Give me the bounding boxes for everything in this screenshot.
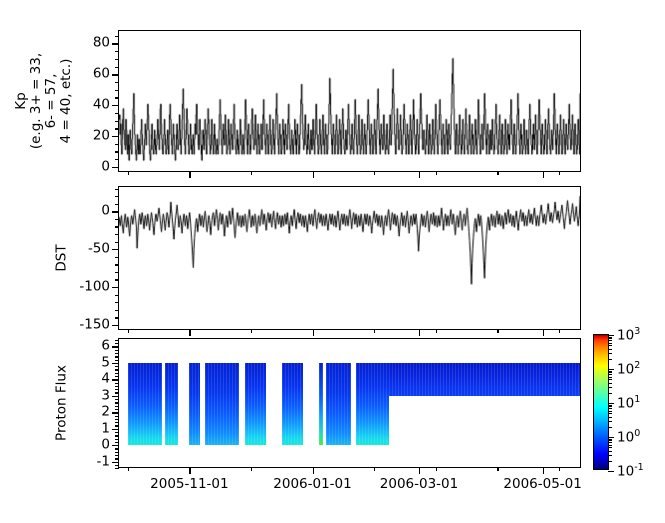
- dst-y-tick-label: -100: [79, 280, 110, 294]
- proton-flux-y-minor-tick: [115, 432, 119, 433]
- colorbar-minor-tick: [608, 405, 612, 406]
- colorbar-minor-tick: [608, 411, 612, 412]
- colorbar-minor-tick: [608, 353, 612, 354]
- kp-y-minor-tick: [115, 97, 119, 98]
- kp-x-tick: [189, 171, 190, 178]
- proton-flux-x-tick-label: 2006-03-01: [380, 478, 458, 492]
- kp-x-minor-tick: [436, 171, 437, 175]
- colorbar-minor-tick: [608, 337, 612, 338]
- proton-flux-y-minor-tick: [115, 376, 119, 377]
- proton-flux-block: [189, 363, 200, 445]
- dst-x-tick: [313, 329, 314, 336]
- colorbar-minor-tick: [608, 343, 612, 344]
- dst-y-minor-tick: [115, 234, 119, 235]
- dst-y-minor-tick: [115, 295, 119, 296]
- proton-flux-y-tick: [112, 462, 119, 463]
- proton-flux-y-minor-tick: [115, 340, 119, 341]
- colorbar-minor-tick: [608, 372, 612, 373]
- kp-y-tick-label: 20: [93, 129, 110, 143]
- kp-y-minor-tick: [115, 159, 119, 160]
- proton-flux-y-minor-tick: [115, 409, 119, 410]
- colorbar-minor-tick: [608, 383, 612, 384]
- kp-y-minor-tick: [115, 67, 119, 68]
- kp-x-tick: [419, 171, 420, 178]
- kp-y-minor-tick: [115, 90, 119, 91]
- colorbar-minor-tick: [608, 417, 612, 418]
- kp-y-minor-tick: [115, 51, 119, 52]
- kp-y-minor-tick: [115, 128, 119, 129]
- colorbar-minor-tick: [608, 442, 612, 443]
- proton-flux-block-texture: [282, 363, 303, 445]
- dst-trace: [119, 187, 580, 329]
- figure-canvas: 020406080 Kp (e.g. 3+ = 33, 6- = 57, 4 =…: [0, 0, 665, 523]
- proton-flux-y-minor-tick: [115, 465, 119, 466]
- proton-flux-x-minor-tick: [128, 467, 129, 471]
- proton-flux-y-minor-tick: [115, 383, 119, 384]
- proton-flux-y-minor-tick: [115, 392, 119, 393]
- proton-flux-y-tick-label: 5: [101, 356, 110, 370]
- proton-flux-block: [356, 363, 389, 445]
- proton-flux-y-minor-tick: [115, 353, 119, 354]
- colorbar-tick-label: 100: [617, 429, 640, 445]
- colorbar-minor-tick: [608, 447, 612, 448]
- proton-flux-y-tick: [112, 346, 119, 347]
- proton-flux-y-minor-tick: [115, 389, 119, 390]
- colorbar-tick-label: 103: [617, 327, 640, 343]
- dst-plot-panel: 0-50-100-150: [118, 186, 581, 330]
- proton-flux-y-tick: [112, 412, 119, 413]
- proton-flux-x-tick: [543, 467, 544, 474]
- colorbar-minor-tick: [608, 387, 612, 388]
- dst-x-minor-tick: [374, 329, 375, 333]
- proton-flux-block: [165, 363, 178, 445]
- proton-flux-block-texture: [245, 363, 266, 445]
- kp-y-minor-tick: [115, 151, 119, 152]
- colorbar-minor-tick: [608, 379, 612, 380]
- kp-y-tick: [112, 105, 119, 106]
- colorbar-minor-tick: [608, 406, 612, 407]
- dst-x-tick: [419, 329, 420, 336]
- proton-flux-y-minor-tick: [115, 386, 119, 387]
- proton-flux-y-tick-label: 0: [101, 438, 110, 452]
- colorbar-tick: [608, 403, 614, 404]
- proton-flux-heatmap: [119, 339, 580, 467]
- colorbar-minor-tick: [608, 338, 612, 339]
- colorbar-minor-tick: [608, 374, 612, 375]
- proton-flux-y-minor-tick: [115, 406, 119, 407]
- colorbar-minor-tick: [608, 421, 612, 422]
- kp-y-tick: [112, 43, 119, 44]
- kp-x-tick: [313, 171, 314, 178]
- kp-y-minor-tick: [115, 113, 119, 114]
- kp-y-minor-tick: [115, 82, 119, 83]
- kp-y-tick-label: 60: [93, 67, 110, 81]
- proton-flux-block-texture: [356, 363, 389, 445]
- proton-flux-y-tick: [112, 363, 119, 364]
- proton-flux-y-minor-tick: [115, 356, 119, 357]
- dst-y-tick-label: 0: [101, 205, 110, 219]
- colorbar-minor-tick: [608, 461, 612, 462]
- proton-flux-block-texture: [326, 363, 351, 445]
- proton-flux-block-texture: [319, 363, 323, 445]
- dst-x-minor-tick: [436, 329, 437, 333]
- colorbar-tick: [608, 335, 614, 336]
- dst-y-tick-label: -50: [88, 242, 110, 256]
- proton-flux-y-minor-tick: [115, 350, 119, 351]
- kp-y-tick: [112, 136, 119, 137]
- proton-flux-y-tick: [112, 396, 119, 397]
- proton-flux-y-minor-tick: [115, 422, 119, 423]
- dst-y-tick-label: -150: [79, 318, 110, 332]
- colorbar-minor-tick: [608, 393, 612, 394]
- colorbar-minor-tick: [608, 371, 612, 372]
- proton-flux-y-tick-label: 6: [101, 340, 110, 354]
- dst-y-minor-tick: [115, 317, 119, 318]
- proton-flux-block: [245, 363, 266, 445]
- kp-y-tick-label: 80: [93, 37, 110, 51]
- dst-y-minor-tick: [115, 226, 119, 227]
- proton-flux-axis-title: Proton Flux: [54, 365, 69, 441]
- dst-y-tick: [112, 211, 119, 212]
- colorbar-tick: [608, 369, 614, 370]
- proton-flux-y-tick-label: -1: [97, 455, 110, 469]
- proton-flux-x-tick-label: 2005-11-01: [150, 478, 228, 492]
- dst-x-minor-tick: [559, 329, 560, 333]
- dst-y-minor-tick: [115, 272, 119, 273]
- kp-trace: [119, 31, 580, 171]
- kp-axis-title-line-4: 4 = 40, etc.): [59, 53, 74, 149]
- proton-flux-block-texture: [205, 363, 239, 445]
- proton-flux-colorbar: 10-1100101102103: [593, 334, 609, 470]
- dst-axis-title: DST: [54, 244, 69, 271]
- proton-flux-x-tick-label: 2006-05-01: [503, 478, 581, 492]
- proton-flux-x-minor-tick: [559, 467, 560, 471]
- dst-x-minor-tick: [128, 329, 129, 333]
- kp-y-tick: [112, 167, 119, 168]
- proton-flux-y-minor-tick: [115, 439, 119, 440]
- dst-y-tick: [112, 249, 119, 250]
- kp-y-minor-tick: [115, 121, 119, 122]
- dst-x-tick: [189, 329, 190, 336]
- proton-flux-y-minor-tick: [115, 360, 119, 361]
- proton-flux-y-tick: [112, 445, 119, 446]
- dst-y-minor-tick: [115, 302, 119, 303]
- proton-flux-x-tick: [313, 467, 314, 474]
- kp-y-minor-tick: [115, 59, 119, 60]
- colorbar-minor-tick: [608, 440, 612, 441]
- proton-flux-y-tick-label: 2: [101, 405, 110, 419]
- proton-flux-y-minor-tick: [115, 402, 119, 403]
- proton-flux-x-minor-tick: [374, 467, 375, 471]
- dst-y-minor-tick: [115, 310, 119, 311]
- kp-x-minor-tick: [128, 171, 129, 175]
- kp-y-tick: [112, 74, 119, 75]
- proton-flux-block-texture: [165, 363, 178, 445]
- proton-flux-y-minor-tick: [115, 425, 119, 426]
- colorbar-minor-tick: [608, 349, 612, 350]
- dst-y-tick: [112, 325, 119, 326]
- proton-flux-y-minor-tick: [115, 366, 119, 367]
- proton-flux-block: [326, 363, 351, 445]
- colorbar-tick-label: 101: [617, 395, 640, 411]
- colorbar-tick-label: 102: [617, 361, 640, 377]
- colorbar-minor-tick: [608, 340, 612, 341]
- proton-flux-y-minor-tick: [115, 452, 119, 453]
- colorbar-minor-tick: [608, 359, 612, 360]
- colorbar-minor-tick: [608, 427, 612, 428]
- proton-flux-y-minor-tick: [115, 455, 119, 456]
- proton-flux-y-minor-tick: [115, 468, 119, 469]
- proton-flux-block: [282, 363, 303, 445]
- dst-y-minor-tick: [115, 279, 119, 280]
- proton-flux-y-minor-tick: [115, 458, 119, 459]
- colorbar-minor-tick: [608, 455, 612, 456]
- proton-flux-y-minor-tick: [115, 373, 119, 374]
- dst-y-minor-tick: [115, 196, 119, 197]
- proton-flux-y-tick: [112, 429, 119, 430]
- proton-flux-y-minor-tick: [115, 435, 119, 436]
- dst-y-minor-tick: [115, 189, 119, 190]
- kp-axis-title-line-1: Kp: [14, 53, 29, 149]
- kp-axis-title-line-2: (e.g. 3+ = 33,: [29, 53, 44, 149]
- proton-flux-x-tick-label: 2006-01-01: [273, 478, 351, 492]
- proton-flux-block-texture: [389, 363, 580, 396]
- proton-flux-y-tick-label: 4: [101, 373, 110, 387]
- colorbar-minor-tick: [608, 408, 612, 409]
- kp-x-minor-tick: [559, 171, 560, 175]
- dst-x-minor-tick: [497, 329, 498, 333]
- kp-x-tick: [543, 171, 544, 178]
- dst-x-tick: [543, 329, 544, 336]
- colorbar-minor-tick: [608, 413, 612, 414]
- colorbar-minor-tick: [608, 345, 612, 346]
- kp-axis-title-line-3: 6- = 57,: [44, 53, 59, 149]
- proton-flux-block-texture: [128, 363, 161, 445]
- colorbar-tick-label: 10-1: [617, 463, 644, 479]
- kp-x-minor-tick: [251, 171, 252, 175]
- proton-flux-block: [128, 363, 161, 445]
- kp-x-minor-tick: [497, 171, 498, 175]
- proton-flux-x-minor-tick: [497, 467, 498, 471]
- kp-y-tick-label: 40: [93, 98, 110, 112]
- proton-flux-block: [319, 363, 323, 445]
- proton-flux-block: [389, 363, 580, 396]
- proton-flux-y-minor-tick: [115, 419, 119, 420]
- kp-axis-title: Kp (e.g. 3+ = 33, 6- = 57, 4 = 40, etc.): [14, 53, 74, 149]
- proton-flux-y-minor-tick: [115, 399, 119, 400]
- proton-flux-x-tick: [419, 467, 420, 474]
- proton-flux-y-minor-tick: [115, 369, 119, 370]
- proton-flux-y-tick-label: 1: [101, 422, 110, 436]
- kp-y-minor-tick: [115, 144, 119, 145]
- proton-flux-y-minor-tick: [115, 448, 119, 449]
- proton-flux-y-tick: [112, 379, 119, 380]
- kp-x-minor-tick: [374, 171, 375, 175]
- dst-y-minor-tick: [115, 219, 119, 220]
- proton-flux-y-tick-label: 3: [101, 389, 110, 403]
- kp-y-tick-label: 0: [101, 160, 110, 174]
- proton-flux-y-minor-tick: [115, 343, 119, 344]
- colorbar-minor-tick: [608, 451, 612, 452]
- proton-flux-y-minor-tick: [115, 416, 119, 417]
- kp-y-minor-tick: [115, 36, 119, 37]
- dst-x-minor-tick: [251, 329, 252, 333]
- colorbar-tick: [608, 437, 614, 438]
- dst-y-tick: [112, 287, 119, 288]
- dst-y-minor-tick: [115, 242, 119, 243]
- proton-flux-block: [205, 363, 239, 445]
- proton-flux-plot-panel: -10123456 2005-11-012006-01-012006-03-01…: [118, 338, 581, 468]
- proton-flux-x-minor-tick: [436, 467, 437, 471]
- proton-flux-block-texture: [189, 363, 200, 445]
- proton-flux-y-minor-tick: [115, 442, 119, 443]
- colorbar-tick: [608, 471, 614, 472]
- kp-plot-panel: 020406080: [118, 30, 581, 172]
- proton-flux-x-minor-tick: [251, 467, 252, 471]
- colorbar-minor-tick: [608, 377, 612, 378]
- dst-y-minor-tick: [115, 257, 119, 258]
- colorbar-minor-tick: [608, 439, 612, 440]
- dst-y-minor-tick: [115, 264, 119, 265]
- colorbar-minor-tick: [608, 445, 612, 446]
- dst-y-minor-tick: [115, 204, 119, 205]
- proton-flux-x-tick: [189, 467, 190, 474]
